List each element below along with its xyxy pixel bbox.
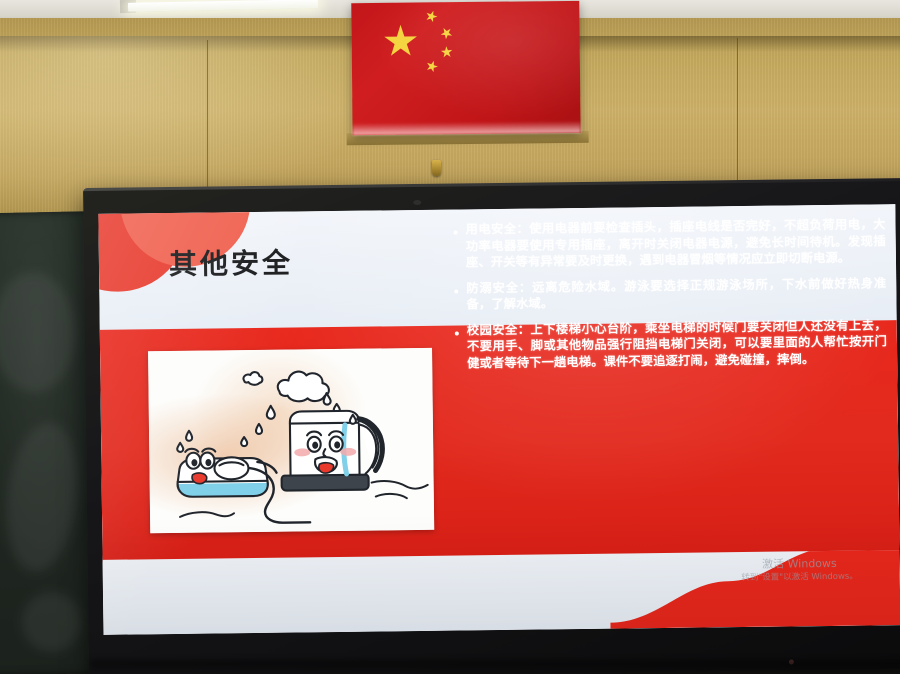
display-screen[interactable]: 其他安全 xyxy=(98,204,900,635)
bullet-dot-icon xyxy=(454,289,458,293)
presentation-slide[interactable]: 其他安全 xyxy=(98,204,900,635)
flag-sheen xyxy=(351,1,580,135)
list-item: 用电安全：使用电器前要检查插头，插座电线是否完好，不超负荷用电，大功率电器要使用… xyxy=(451,216,886,271)
slide-footer: 激活 Windows 转到"设置"以激活 Windows。 xyxy=(103,550,900,635)
gold-hook-icon xyxy=(432,160,441,176)
bullet-dot-icon xyxy=(455,331,459,335)
bullet-text-campus-safety: 校园安全：上下楼梯小心台阶，乘坐电梯的时候门要关闭但人还没有上去，不要用手、脚或… xyxy=(467,317,888,372)
display-drop-shadow xyxy=(90,660,900,674)
illustration-frame xyxy=(148,348,434,533)
classroom-photo: 其他安全 xyxy=(0,0,900,674)
kettle-and-socket-illustration-svg xyxy=(148,348,434,533)
kettle-and-socket-cartoon xyxy=(148,348,434,533)
decor-wave-icon xyxy=(609,550,900,635)
chinese-national-flag xyxy=(351,0,583,149)
chalk-smudge xyxy=(0,419,86,576)
chalk-smudge xyxy=(21,591,82,652)
list-item: 防溺安全：远离危险水域。游泳要选择正规游泳场所，下水前做好热身准备，了解水域。 xyxy=(452,275,886,313)
bullet-list: 用电安全：使用电器前要检查插头，插座电线是否完好，不超负荷用电，大功率电器要使用… xyxy=(443,204,898,442)
bullet-text-electrical-safety: 用电安全：使用电器前要检查插头，插座电线是否完好，不超负荷用电，大功率电器要使用… xyxy=(465,216,886,271)
ir-sensor-icon xyxy=(413,200,421,205)
list-item: 校园安全：上下楼梯小心台阶，乘坐电梯的时候门要关闭但人还没有上去，不要用手、脚或… xyxy=(453,317,888,372)
chalk-smudge xyxy=(0,271,77,393)
interactive-display[interactable]: 其他安全 xyxy=(83,178,900,674)
flag-field xyxy=(351,1,580,135)
bullet-text-drowning-prevention-safety: 防溺安全：远离危险水域。游泳要选择正规游泳场所，下水前做好热身准备，了解水域。 xyxy=(466,275,886,313)
flag-glare xyxy=(353,121,581,135)
page-title: 其他安全 xyxy=(169,242,293,284)
bullet-dot-icon xyxy=(454,231,458,235)
wall-panel-seam xyxy=(207,40,208,190)
